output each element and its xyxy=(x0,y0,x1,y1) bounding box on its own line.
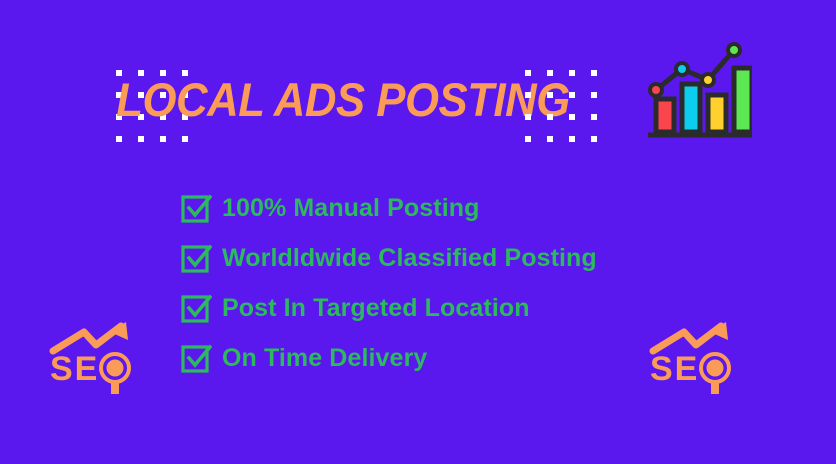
dot xyxy=(569,92,575,98)
dot xyxy=(569,70,575,76)
dot xyxy=(591,136,597,142)
chart-node-cyan xyxy=(676,63,688,75)
dot xyxy=(547,136,553,142)
banner-title: LOCAL ADS POSTING xyxy=(190,60,497,138)
bar-chart-icon xyxy=(648,32,752,142)
seo-logo-right: SE xyxy=(648,318,740,396)
checkbox-checked-icon xyxy=(180,192,212,224)
dot xyxy=(138,136,144,142)
seo-logo-text: SE xyxy=(650,350,699,388)
dot xyxy=(591,92,597,98)
dot xyxy=(116,136,122,142)
feature-label: On Time Delivery xyxy=(222,346,427,371)
dot xyxy=(525,70,531,76)
feature-label: 100% Manual Posting xyxy=(222,196,480,221)
magnifier-icon xyxy=(701,354,729,394)
dot xyxy=(547,114,553,120)
dot xyxy=(525,92,531,98)
checkbox-checked-icon xyxy=(180,342,212,374)
chart-bar-green xyxy=(734,68,752,132)
dot xyxy=(160,136,166,142)
dot xyxy=(591,114,597,120)
chart-bar-red xyxy=(656,99,674,132)
chart-node-green xyxy=(728,44,740,56)
chart-node-red xyxy=(650,84,662,96)
dot xyxy=(547,70,553,76)
dot xyxy=(525,136,531,142)
magnifier-icon xyxy=(101,354,129,394)
dot xyxy=(525,114,531,120)
dot xyxy=(569,114,575,120)
chart-node-yellow xyxy=(702,74,714,86)
growth-arrow-icon xyxy=(53,322,128,351)
dot xyxy=(547,92,553,98)
growth-arrow-icon xyxy=(653,322,728,351)
feature-label: Worldldwide Classified Posting xyxy=(222,246,597,271)
feature-item: 100% Manual Posting xyxy=(180,183,650,233)
feature-list: 100% Manual Posting Worldldwide Classifi… xyxy=(180,183,650,383)
dot xyxy=(182,136,188,142)
dot xyxy=(569,136,575,142)
checkbox-checked-icon xyxy=(180,292,212,324)
dot xyxy=(591,70,597,76)
dot-grid-right xyxy=(525,70,597,142)
seo-logo-text: SE xyxy=(50,350,99,388)
feature-item: Worldldwide Classified Posting xyxy=(180,233,650,283)
seo-logo-left: SE xyxy=(48,318,140,396)
chart-bar-yellow xyxy=(708,95,726,132)
feature-item: Post In Targeted Location xyxy=(180,283,650,333)
chart-bar-cyan xyxy=(682,84,700,132)
feature-item: On Time Delivery xyxy=(180,333,650,383)
promo-banner: LOCAL ADS POSTING xyxy=(0,0,836,464)
checkbox-checked-icon xyxy=(180,242,212,274)
feature-label: Post In Targeted Location xyxy=(222,296,530,321)
